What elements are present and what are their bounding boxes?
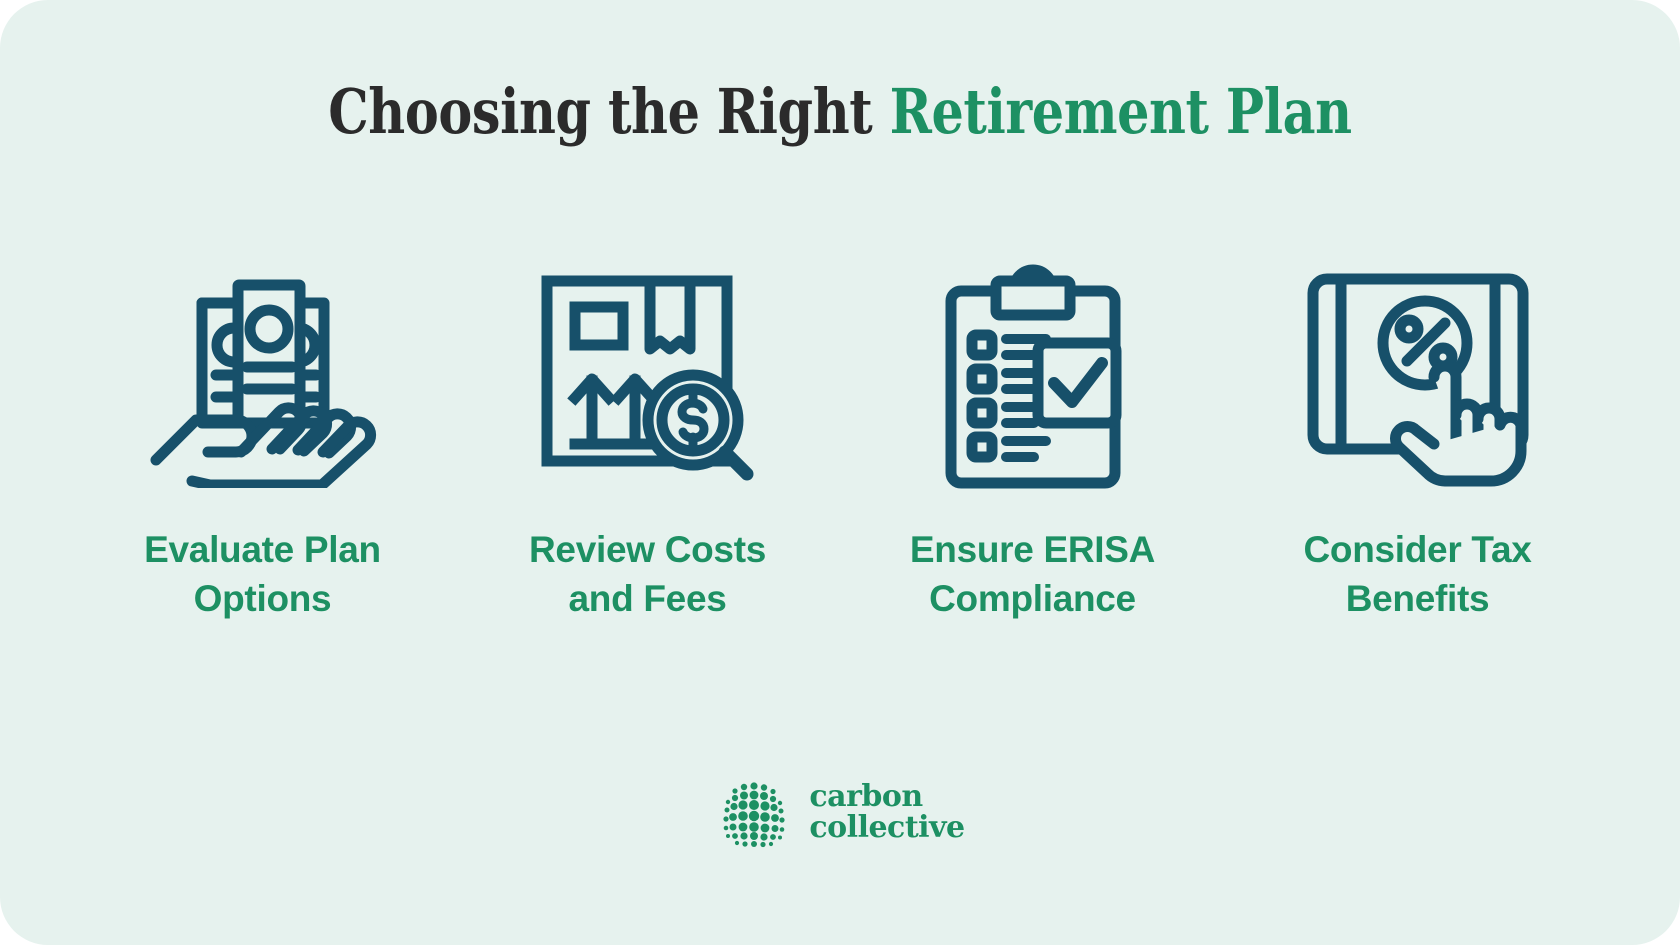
icon-container-3: [942, 250, 1124, 500]
step-card-review-costs-and-fees: Review Costs and Fees: [475, 250, 820, 624]
step-card-ensure-erisa-compliance: Ensure ERISA Compliance: [860, 250, 1205, 624]
step-card-consider-tax-benefits: Consider Tax Benefits: [1245, 250, 1590, 624]
page-title: Choosing the Right Retirement Plan: [151, 78, 1529, 146]
step-label-4: Consider Tax Benefits: [1303, 526, 1531, 624]
steps-row: Evaluate Plan Options: [90, 250, 1590, 624]
icon-container-2: [534, 250, 762, 500]
title-dark-part: Choosing the Right: [328, 75, 889, 148]
carbon-collective-dot-sphere-logo: [715, 775, 793, 853]
cash-in-hand-icon: [148, 263, 378, 488]
title-accent-part: Retirement Plan: [890, 75, 1352, 148]
step-card-evaluate-plan-options: Evaluate Plan Options: [90, 250, 435, 624]
icon-container-1: [148, 250, 378, 500]
brand-footer: carbon collective: [0, 775, 1680, 853]
infographic-canvas: Choosing the Right Retirement Plan: [0, 0, 1680, 945]
clipboard-checklist-icon: [942, 259, 1124, 491]
step-label-2: Review Costs and Fees: [529, 526, 766, 624]
step-label-3: Ensure ERISA Compliance: [910, 526, 1155, 624]
icon-container-4: [1303, 250, 1533, 500]
brand-wordmark: carbon collective: [809, 782, 964, 845]
package-magnifier-dollar-icon: [534, 263, 762, 488]
percent-card-hand-tap-icon: [1303, 261, 1533, 489]
step-label-1: Evaluate Plan Options: [144, 526, 381, 624]
title-block: Choosing the Right Retirement Plan: [0, 78, 1680, 146]
